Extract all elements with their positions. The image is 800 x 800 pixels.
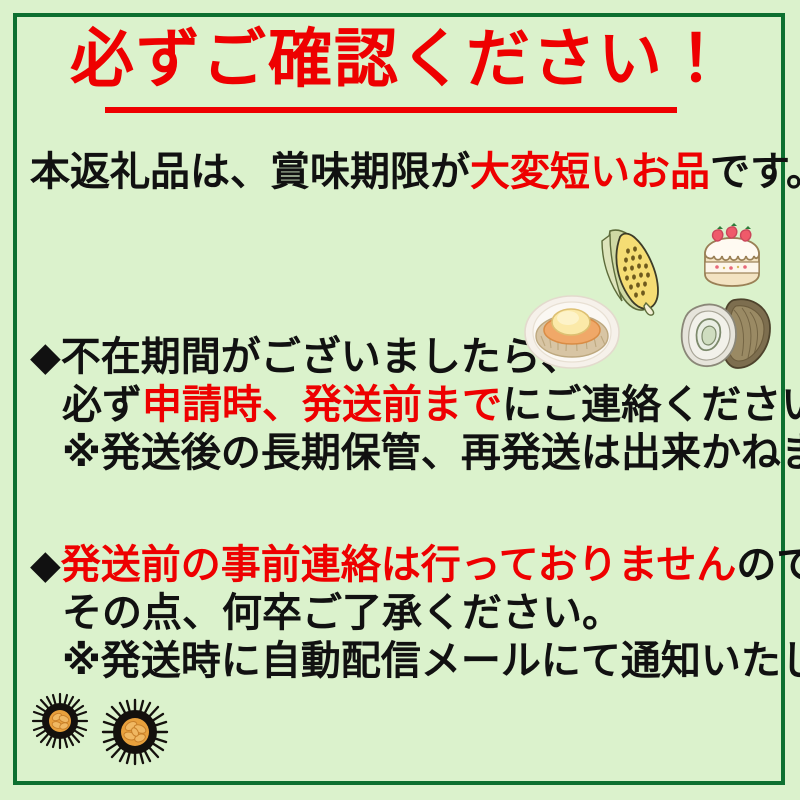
block-1-line-1-black-1: 不在期間がございましたら、 bbox=[61, 335, 581, 379]
lead-text-black-1: 本返礼品は、賞味期限が bbox=[30, 150, 470, 194]
scallop-illustration bbox=[521, 292, 623, 372]
bullet-diamond-icon: ◆ bbox=[30, 335, 61, 379]
page-title: 必ずご確認ください！ bbox=[70, 24, 730, 96]
block-2-line-1-red: 発送前の事前連絡は行っておりません bbox=[61, 543, 737, 587]
block-2-line-2-black-1: その点、何卒ご了承ください。 bbox=[62, 591, 622, 635]
strawberry-cake-illustration bbox=[697, 222, 767, 292]
block-2-line-3: ※発送時に自動配信メールにて通知いたします。 bbox=[62, 641, 800, 681]
lead-text-black-2: です。 bbox=[710, 150, 800, 194]
block-2-line-2: その点、何卒ご了承ください。 bbox=[62, 593, 622, 633]
block-1-line-2-black-2: にご連絡ください。 bbox=[502, 383, 800, 427]
block-1-line-3-black-1: ※発送後の長期保管、再発送は出来かねます。 bbox=[62, 431, 800, 475]
block-2-line-1-black-2: ので、 bbox=[736, 543, 800, 587]
sea-urchin-illustration-small bbox=[31, 692, 89, 750]
block-1-line-2-black-1: 必ず bbox=[62, 383, 142, 427]
block-1-line-2: 必ず申請時、発送前までにご連絡ください。 bbox=[62, 385, 800, 425]
block-2-line-1: ◆発送前の事前連絡は行っておりませんので、 bbox=[30, 545, 800, 585]
bullet-diamond-icon: ◆ bbox=[30, 543, 61, 587]
lead-sentence: 本返礼品は、賞味期限が大変短いお品です。 bbox=[30, 152, 800, 192]
notice-banner: 必ずご確認ください！ 本返礼品は、賞味期限が大変短いお品です。 ◆不在期間がござ… bbox=[0, 0, 800, 800]
block-1-line-1: ◆不在期間がございましたら、 bbox=[30, 337, 581, 377]
oyster-illustration bbox=[678, 296, 774, 372]
block-2-line-3-black-1: ※発送時に自動配信メールにて通知いたします。 bbox=[62, 639, 800, 683]
lead-text-red: 大変短いお品 bbox=[470, 150, 710, 194]
sea-urchin-illustration-large bbox=[101, 698, 169, 766]
headline-underline bbox=[105, 107, 677, 113]
block-1-line-3: ※発送後の長期保管、再発送は出来かねます。 bbox=[62, 433, 800, 473]
block-1-line-2-red: 申請時、発送前まで bbox=[142, 383, 502, 427]
headline-container: 必ずご確認ください！ bbox=[0, 24, 800, 96]
